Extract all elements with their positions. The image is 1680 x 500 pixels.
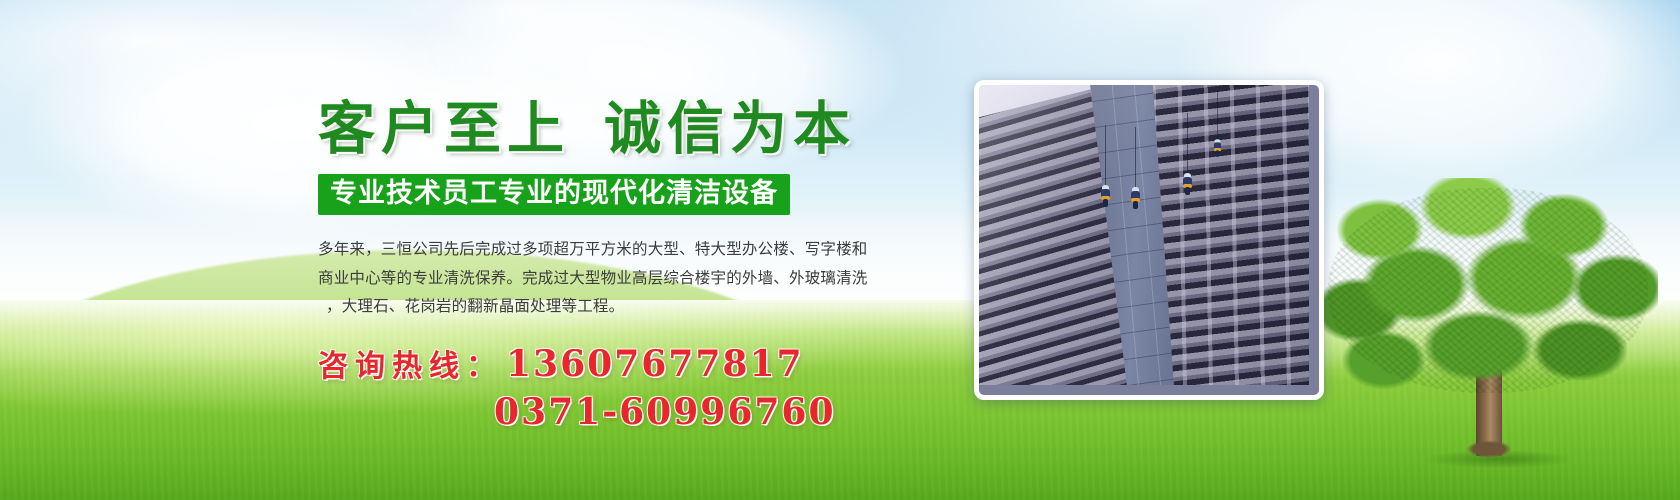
banner-copy: 客户至上诚信为本 专业技术员工专业的现代化清洁设备 多年来，三恒公司先后完成过多… <box>318 98 918 434</box>
promo-banner: 客户至上诚信为本 专业技术员工专业的现代化清洁设备 多年来，三恒公司先后完成过多… <box>0 0 1680 500</box>
tower-right-columns <box>1151 85 1309 385</box>
hotline-colon: ： <box>466 349 498 384</box>
description-line-2: 商业中心等的专业清洗保养。完成过大型物业高层综合楼宇的外墙、外玻璃清洗 <box>318 264 883 293</box>
worker-rope <box>1105 125 1106 187</box>
tree-illustration <box>1318 178 1658 468</box>
rope-access-worker <box>1183 173 1192 195</box>
worker-rope <box>1187 113 1188 175</box>
building-photo-card[interactable] <box>974 80 1324 400</box>
rope-access-worker <box>1101 185 1110 207</box>
hotline-landline-number[interactable]: 0371-60996760 <box>318 391 918 433</box>
tower-right-facade <box>1151 85 1309 385</box>
worker-legs <box>1216 150 1220 156</box>
subtitle-bar: 专业技术员工专业的现代化清洁设备 <box>318 174 790 215</box>
worker-legs <box>1133 201 1138 209</box>
rope-access-worker <box>1214 139 1221 157</box>
worker-rope <box>1217 91 1218 141</box>
subtitle-text: 专业技术员工专业的现代化清洁设备 <box>330 180 778 208</box>
hotline-mobile-number[interactable]: 13607677817 <box>506 343 804 385</box>
worker-legs <box>1103 199 1108 207</box>
description-line-3: ，大理石、花岗岩的翻新晶面处理等工程。 <box>318 292 883 321</box>
headline: 客户至上诚信为本 <box>318 98 918 160</box>
worker-legs <box>1185 187 1190 195</box>
hotline-block: 咨询热线：13607677817 0371-60996760 <box>318 343 918 434</box>
building-photo <box>979 85 1309 385</box>
description-paragraph: 多年来，三恒公司先后完成过多项超万平方米的大型、特大型办公楼、写字楼和 商业中心… <box>318 235 883 321</box>
worker-rope <box>1135 127 1136 189</box>
hotline-primary-row: 咨询热线：13607677817 <box>318 343 918 385</box>
headline-left-phrase: 客户至上 <box>318 95 570 162</box>
description-line-1: 多年来，三恒公司先后完成过多项超万平方米的大型、特大型办公楼、写字楼和 <box>318 235 883 264</box>
headline-right-phrase: 诚信为本 <box>604 95 856 162</box>
rope-access-worker <box>1131 187 1140 209</box>
hotline-label: 咨询热线 <box>318 349 466 384</box>
tree-canopy-texture <box>1328 188 1648 393</box>
